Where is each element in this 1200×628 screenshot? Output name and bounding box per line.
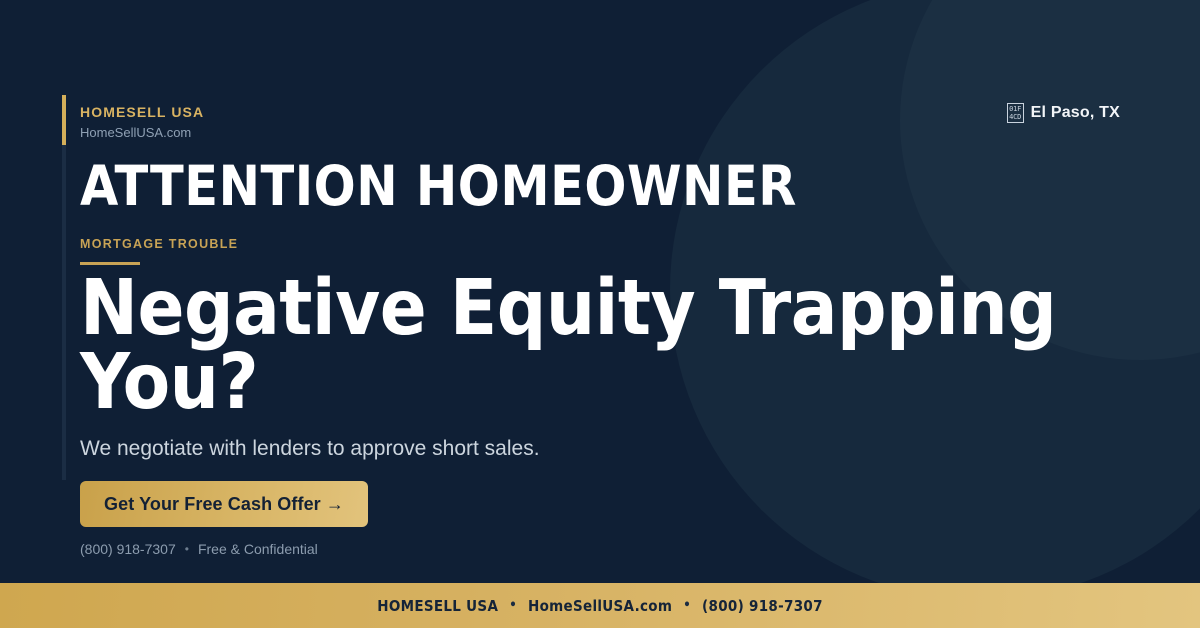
location-badge: 01F 4CD El Paso, TX (1007, 103, 1120, 123)
footer-separator-icon-1: • (509, 598, 517, 613)
footer-phone[interactable]: (800) 918-7307 (702, 597, 823, 615)
footer-brand: HOMESELL USA (377, 597, 498, 615)
subheading: We negotiate with lenders to approve sho… (80, 435, 540, 463)
attention-heading: ATTENTION HOMEOWNER (80, 158, 797, 216)
left-rule-gold-accent (62, 95, 66, 145)
footer-content: HOMESELL USA • HomeSellUSA.com • (800) 9… (377, 597, 823, 615)
phone-number[interactable]: (800) 918-7307 (80, 541, 176, 558)
location-label: El Paso, TX (1031, 104, 1120, 122)
headline-line-1: Negative Equity Trapping (80, 272, 1040, 346)
eyebrow-block: MORTGAGE TROUBLE (80, 238, 238, 265)
headline-line-2: You? (80, 346, 1040, 420)
brand-website: HomeSellUSA.com (80, 126, 204, 140)
contact-meta: (800) 918-7307 • Free & Confidential (80, 541, 318, 558)
get-free-cash-offer-button[interactable]: Get Your Free Cash Offer → (80, 481, 368, 527)
footer-website[interactable]: HomeSellUSA.com (528, 597, 672, 615)
brand-block: HOMESELL USA HomeSellUSA.com (80, 105, 204, 141)
map-pin-icon-codepoint-bottom: 4CD (1009, 113, 1021, 121)
ad-banner: HOMESELL USA HomeSellUSA.com 01F 4CD El … (0, 0, 1200, 628)
brand-name: HOMESELL USA (80, 105, 204, 120)
footer-separator-icon-2: • (683, 598, 691, 613)
map-pin-icon: 01F 4CD (1007, 103, 1024, 123)
footer-bar: HOMESELL USA • HomeSellUSA.com • (800) 9… (0, 583, 1200, 628)
meta-separator-icon: • (185, 542, 189, 556)
map-pin-icon-codepoint-top: 01F (1009, 105, 1021, 113)
eyebrow-label: MORTGAGE TROUBLE (80, 238, 238, 252)
page-title: Negative Equity Trapping You? (80, 272, 1040, 420)
left-vertical-rule (62, 95, 66, 480)
confidential-note: Free & Confidential (198, 541, 318, 558)
content-area: HOMESELL USA HomeSellUSA.com 01F 4CD El … (80, 0, 1120, 583)
